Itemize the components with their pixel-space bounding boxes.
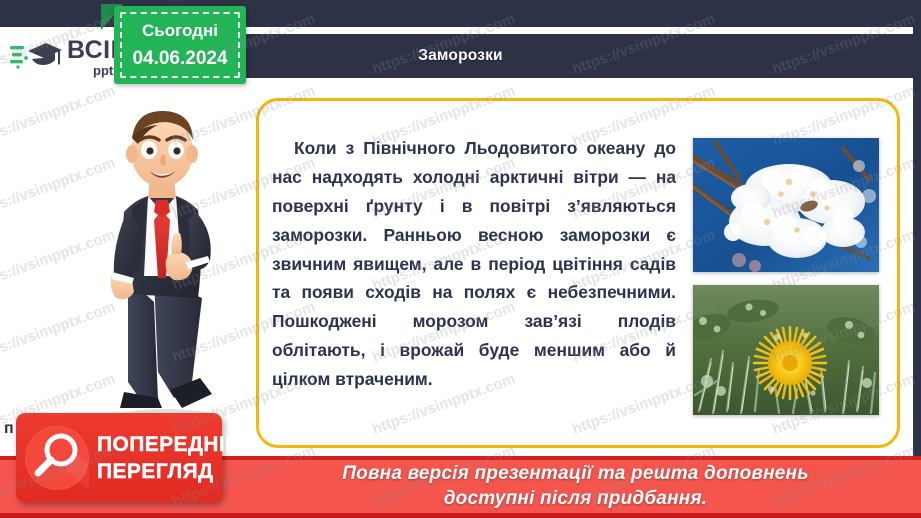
date-badge-label: Сьогодні xyxy=(142,21,218,41)
frosted-blossom-photo xyxy=(693,138,879,272)
graduation-cap-icon xyxy=(10,38,64,78)
preview-badge-text: ПОПЕРЕДНІЙ ПЕРЕГЛЯД xyxy=(97,434,241,482)
preview-badge[interactable]: ПОПЕРЕДНІЙ ПЕРЕГЛЯД xyxy=(16,413,222,502)
preview-line-2: ПЕРЕГЛЯД xyxy=(97,461,241,482)
date-badge-date: 04.06.2024 xyxy=(132,48,227,70)
magnifier-icon xyxy=(25,426,89,490)
frosted-dandelion-photo xyxy=(693,285,879,415)
body-paragraph: Коли з Північного Льодовитого океану до … xyxy=(272,134,676,394)
banner-line-2: доступні після придбання. xyxy=(230,487,921,511)
presentation-slide: Заморозки ВСІМ pptx Сьогодні 04.06.2024 xyxy=(0,0,921,518)
date-badge: Сьогодні 04.06.2024 xyxy=(114,6,246,84)
body-text: Коли з Північного Льодовитого океану до … xyxy=(272,134,676,394)
page-title: Заморозки xyxy=(418,47,503,65)
banner-line-1: Повна версія презентації та решта доповн… xyxy=(230,462,921,486)
right-edge-strip xyxy=(913,0,921,518)
preview-line-1: ПОПЕРЕДНІЙ xyxy=(97,434,241,455)
businessman-mascot xyxy=(62,102,260,432)
